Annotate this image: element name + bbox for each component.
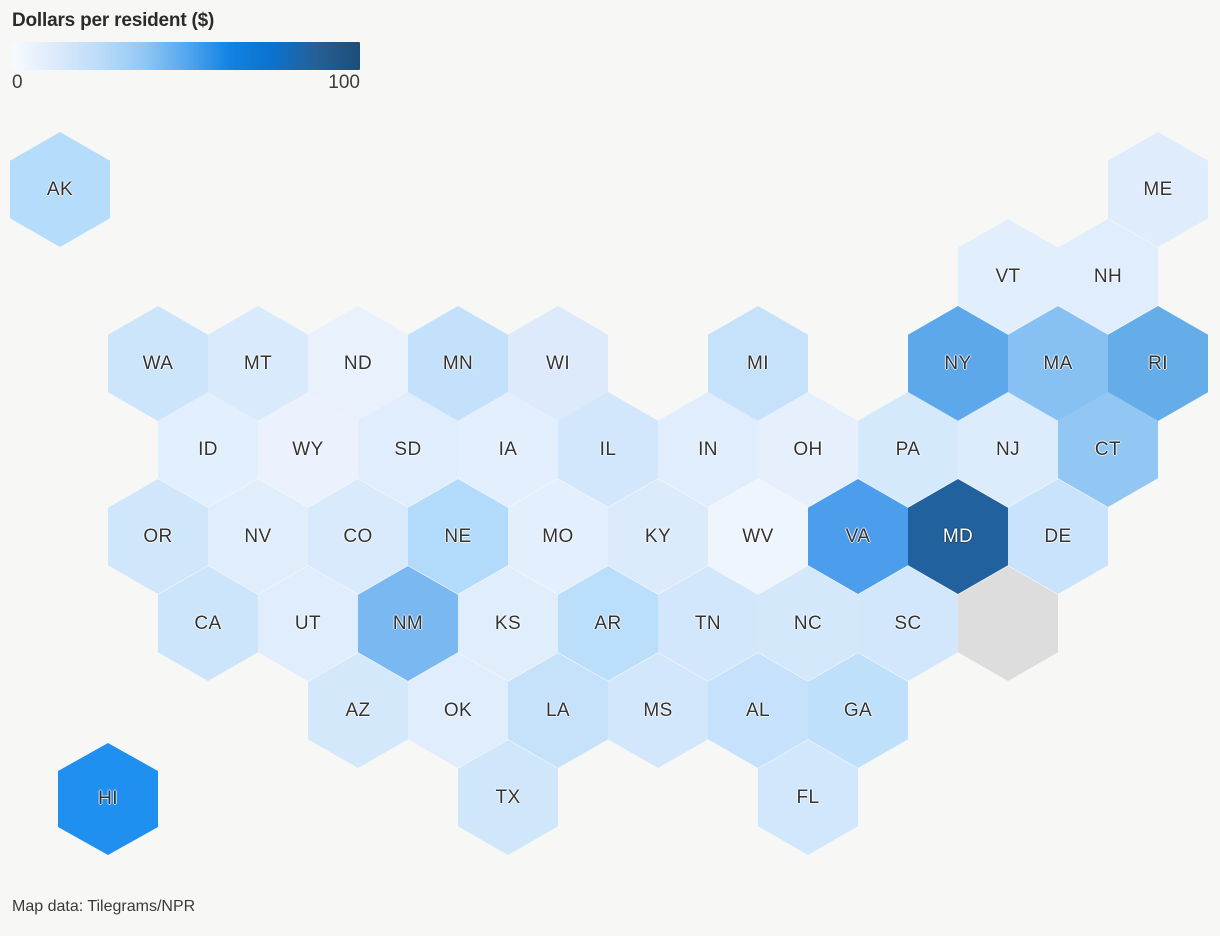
hex-tile-label: UT xyxy=(295,613,321,635)
hex-tile-label: IL xyxy=(600,439,617,461)
hex-tile-label: MA xyxy=(1043,353,1072,375)
hex-tile-label: AL xyxy=(746,700,770,722)
hex-tile-label: SC xyxy=(894,613,921,635)
hex-tile-label: OK xyxy=(444,700,472,722)
hex-tile-label: VA xyxy=(846,526,871,548)
map-source-credit: Map data: Tilegrams/NPR xyxy=(12,898,195,916)
hex-tile-label: WA xyxy=(143,353,174,375)
hex-tile-label: VT xyxy=(995,266,1020,288)
hex-tile-label: NJ xyxy=(996,439,1020,461)
hex-tile-label: WI xyxy=(546,353,570,375)
hex-tile-label: FL xyxy=(797,787,820,809)
hex-tile-label: MS xyxy=(643,700,672,722)
hex-tilegram-map: AKMEVTNHWAMTNDMNWIMINYMARIIDWYSDIAILINOH… xyxy=(0,0,1220,936)
hex-tile-label: AK xyxy=(47,179,73,201)
hex-tile-label: MO xyxy=(542,526,573,548)
hex-tile-label: KS xyxy=(495,613,521,635)
hex-tile-label: NY xyxy=(944,353,971,375)
hex-tile-label: NC xyxy=(794,613,822,635)
hex-tile-label: NE xyxy=(444,526,471,548)
hex-tile-label: TN xyxy=(695,613,721,635)
hex-tile-label: ND xyxy=(344,353,372,375)
hex-tile-label: HI xyxy=(98,788,118,810)
hex-tile-label: WY xyxy=(292,439,323,461)
hex-tile-label: MN xyxy=(443,353,473,375)
hex-tile-label: AR xyxy=(594,613,621,635)
hex-tile-label: WV xyxy=(742,526,773,548)
hex-tile-label: OR xyxy=(143,526,172,548)
hex-tile-label: IN xyxy=(698,439,718,461)
hex-tile-label: AZ xyxy=(345,700,370,722)
hex-tile-label: NV xyxy=(244,526,271,548)
hex-tile-label: IA xyxy=(499,439,518,461)
hex-tile-label: NH xyxy=(1094,266,1122,288)
hex-tile-label: CO xyxy=(343,526,372,548)
hex-tile-label: ID xyxy=(198,439,218,461)
hex-tile-label: KY xyxy=(645,526,671,548)
hex-tile-label: CT xyxy=(1095,439,1121,461)
hex-tile-label: TX xyxy=(495,787,520,809)
hex-tile-label: MT xyxy=(244,353,272,375)
hex-tile-label: PA xyxy=(896,439,921,461)
hex-tile-label: LA xyxy=(546,700,570,722)
hex-tile-label: CA xyxy=(194,613,221,635)
hex-tile-label: SD xyxy=(394,439,421,461)
hex-tile-label: MI xyxy=(747,353,769,375)
hex-tile-ak[interactable]: AK xyxy=(10,132,110,247)
hex-tile-label: DE xyxy=(1044,526,1071,548)
hex-tile-label: MD xyxy=(943,526,973,548)
hex-tile-label: NM xyxy=(393,613,423,635)
hex-tile-hi[interactable]: HI xyxy=(58,743,158,855)
hex-tile-label: GA xyxy=(844,700,872,722)
hex-tile-label: RI xyxy=(1148,353,1168,375)
hex-tile-label: OH xyxy=(793,439,822,461)
hex-tile-label: ME xyxy=(1143,179,1172,201)
